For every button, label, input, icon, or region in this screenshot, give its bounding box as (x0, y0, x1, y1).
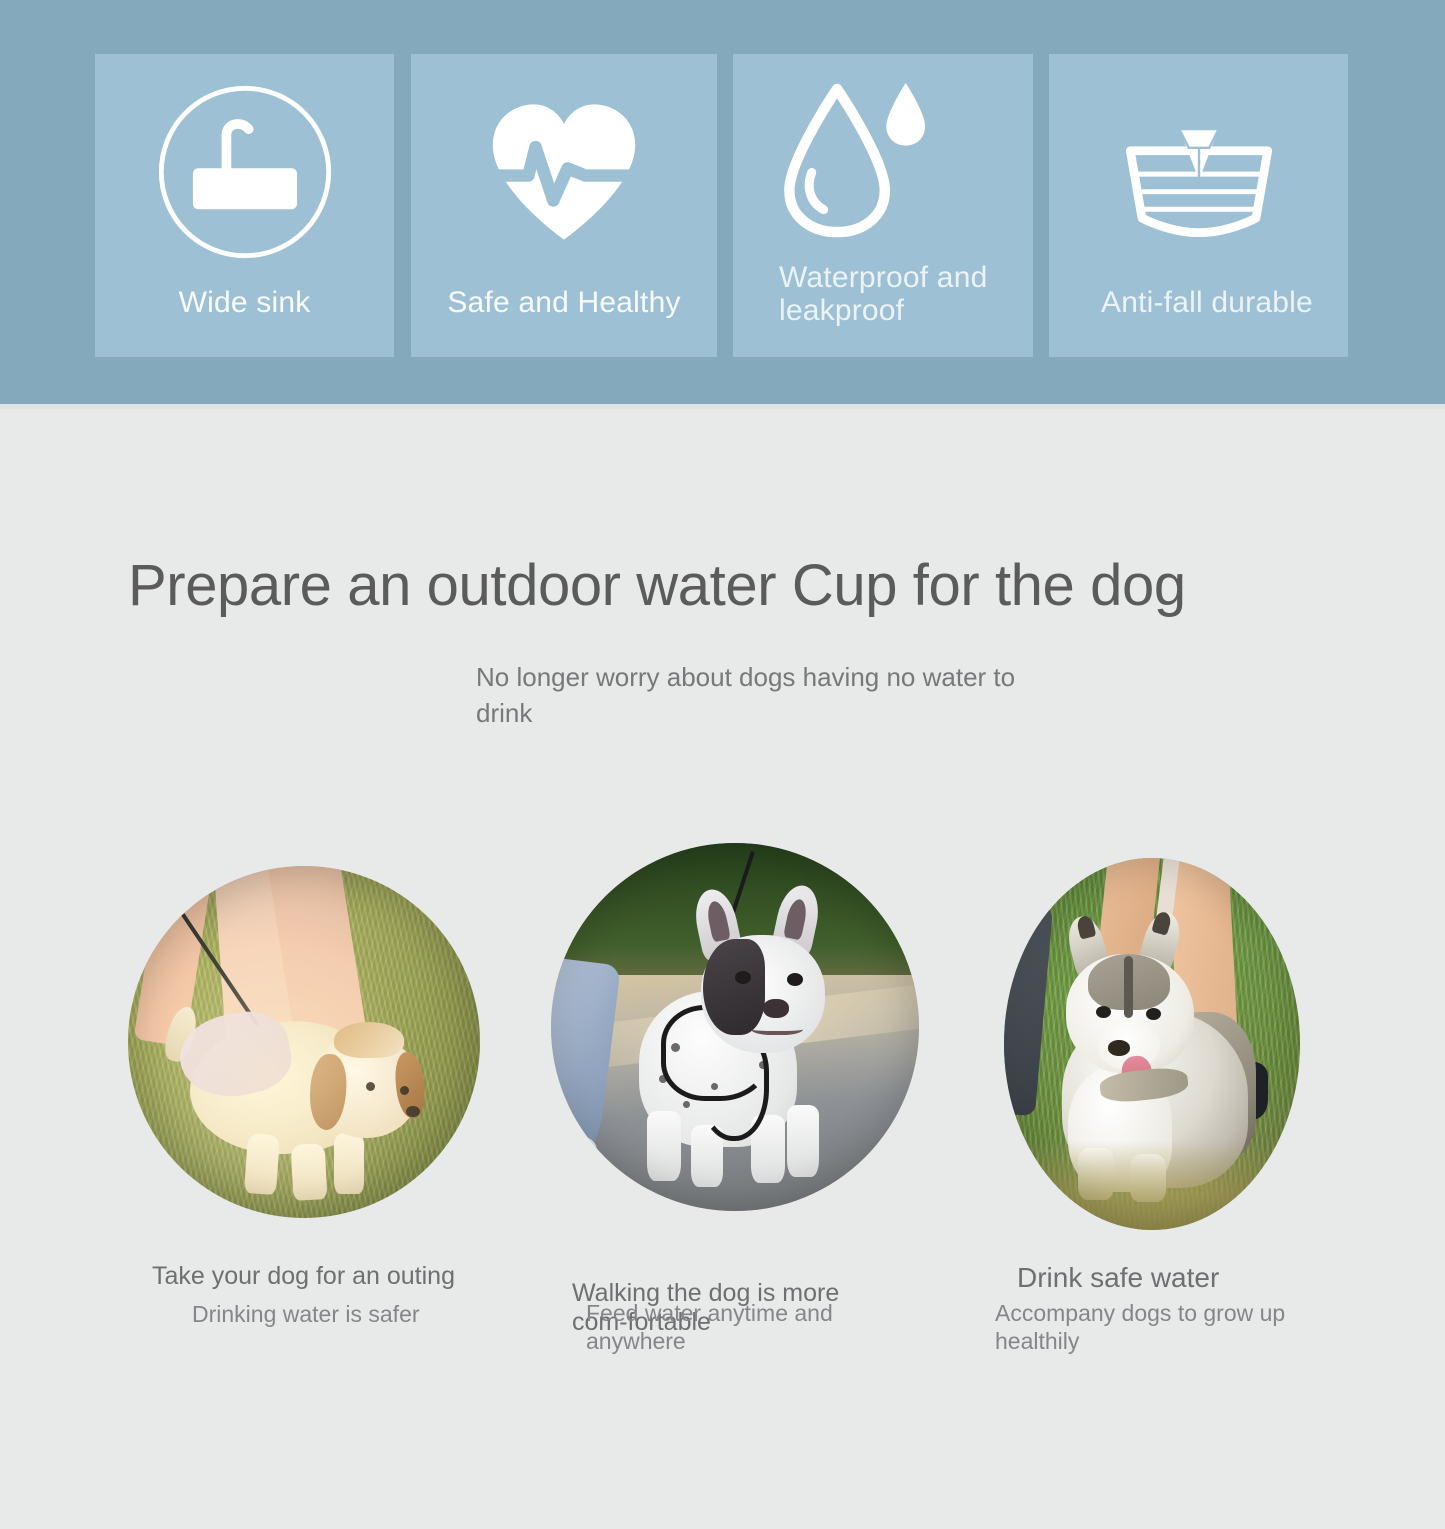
dog-photo-walking (551, 843, 919, 1211)
feature-tile-wide-sink[interactable]: Wide sink (95, 54, 394, 357)
feature-tile-label: Waterproof and leakproof (733, 262, 1033, 327)
feature-tile-waterproof-leakproof[interactable]: Waterproof and leakproof (733, 54, 1033, 357)
feature-tile-anti-fall-durable[interactable]: Anti-fall durable (1049, 54, 1348, 357)
diamond-basket-icon (1049, 80, 1348, 280)
card-caption-subtitle: Feed water anytime and anywhere (586, 1299, 876, 1355)
water-drop-icon (733, 62, 1033, 262)
band-divider (0, 404, 1445, 409)
feature-tile-safe-and-healthy[interactable]: Safe and Healthy (411, 54, 717, 357)
feature-tile-label: Anti-fall durable (1049, 287, 1348, 319)
feature-tile-label: Safe and Healthy (411, 287, 717, 319)
card-caption-subtitle: Accompany dogs to grow up healthily (995, 1299, 1295, 1355)
feature-band: Wide sink Safe and Healthy Waterproof an… (0, 0, 1445, 408)
card-caption-title: Take your dog for an outing (152, 1262, 572, 1291)
card-caption-subtitle: Drinking water is safer (192, 1300, 492, 1328)
page-subtitle: No longer worry about dogs having no wat… (476, 660, 1036, 732)
dog-photo-husky (1004, 858, 1300, 1230)
sink-in-circle-icon (95, 72, 394, 272)
heart-pulse-icon (411, 72, 717, 272)
dog-photo-outing (128, 866, 480, 1218)
card-caption-title: Drink safe water (1017, 1262, 1337, 1294)
page-title: Prepare an outdoor water Cup for the dog (128, 552, 1328, 619)
feature-tile-label: Wide sink (95, 287, 394, 319)
